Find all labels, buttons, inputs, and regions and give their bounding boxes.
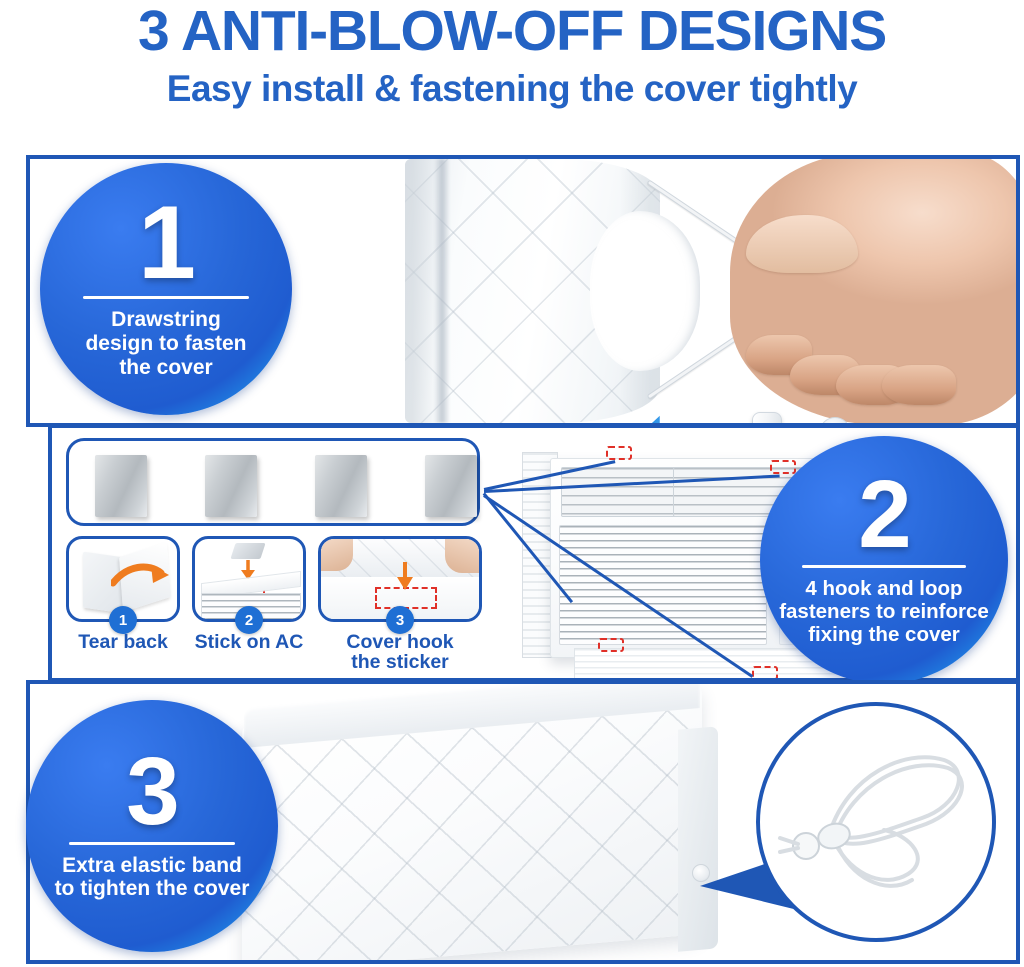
step-number-2: 2 [858, 474, 909, 557]
velcro-patch [315, 455, 367, 517]
fastener-marker [598, 638, 624, 652]
cord-lock-toggle [752, 412, 782, 423]
velcro-patch [205, 455, 257, 517]
finger [882, 365, 956, 405]
step-caption-1: Drawstring design to fasten the cover [75, 308, 256, 379]
step-caption-3: Extra elastic band to tighten the cover [49, 854, 256, 901]
fastener-marker [752, 666, 778, 678]
ac-front-grill [559, 525, 767, 645]
substep-card-1: 1 [66, 536, 180, 622]
step-caption-2: 4 hook and loop fasteners to reinforce f… [775, 577, 993, 646]
velcro-patch [425, 455, 477, 517]
substep-label-3: Cover hook the sticker [314, 632, 486, 673]
page-title: 3 ANTI-BLOW-OFF DESIGNS [0, 0, 1024, 64]
substep-number-2: 2 [235, 606, 263, 634]
step-badge-1: 1 Drawstring design to fasten the cover [40, 163, 292, 415]
badge-divider [802, 565, 966, 568]
substep-number-1: 1 [109, 606, 137, 634]
orange-arrow-icon [111, 561, 171, 595]
left-arrow-icon [635, 407, 713, 423]
cover-seam [434, 159, 450, 423]
header: 3 ANTI-BLOW-OFF DESIGNS Easy install & f… [0, 0, 1024, 130]
step-number-3: 3 [126, 751, 177, 834]
elastic-band-anchor [692, 864, 710, 882]
substep-number-3: 3 [386, 606, 414, 634]
fastener-marker [770, 460, 796, 474]
badge-divider [83, 296, 249, 299]
step-badge-3: 3 Extra elastic band to tighten the cove… [26, 700, 278, 952]
step-number-1: 1 [138, 199, 194, 288]
substep-label-2: Stick on AC [190, 632, 308, 652]
fastener-marker [606, 446, 632, 460]
infographic-root: 3 ANTI-BLOW-OFF DESIGNS Easy install & f… [0, 0, 1024, 967]
substep-label-1: Tear back [66, 632, 180, 652]
elastic-band-illustration [772, 714, 982, 928]
substep-card-2: 2 [192, 536, 306, 622]
cover-opening [590, 211, 700, 371]
badge-divider [69, 842, 235, 845]
page-subtitle: Easy install & fastening the cover tight… [0, 68, 1024, 110]
velcro-strip-card [66, 438, 480, 526]
velcro-patch [95, 455, 147, 517]
substep-card-3: 3 [318, 536, 482, 622]
cover-side-face [678, 726, 718, 951]
step-badge-2: 2 4 hook and loop fasteners to reinforce… [760, 436, 1008, 684]
orange-down-arrow-icon [395, 561, 415, 591]
